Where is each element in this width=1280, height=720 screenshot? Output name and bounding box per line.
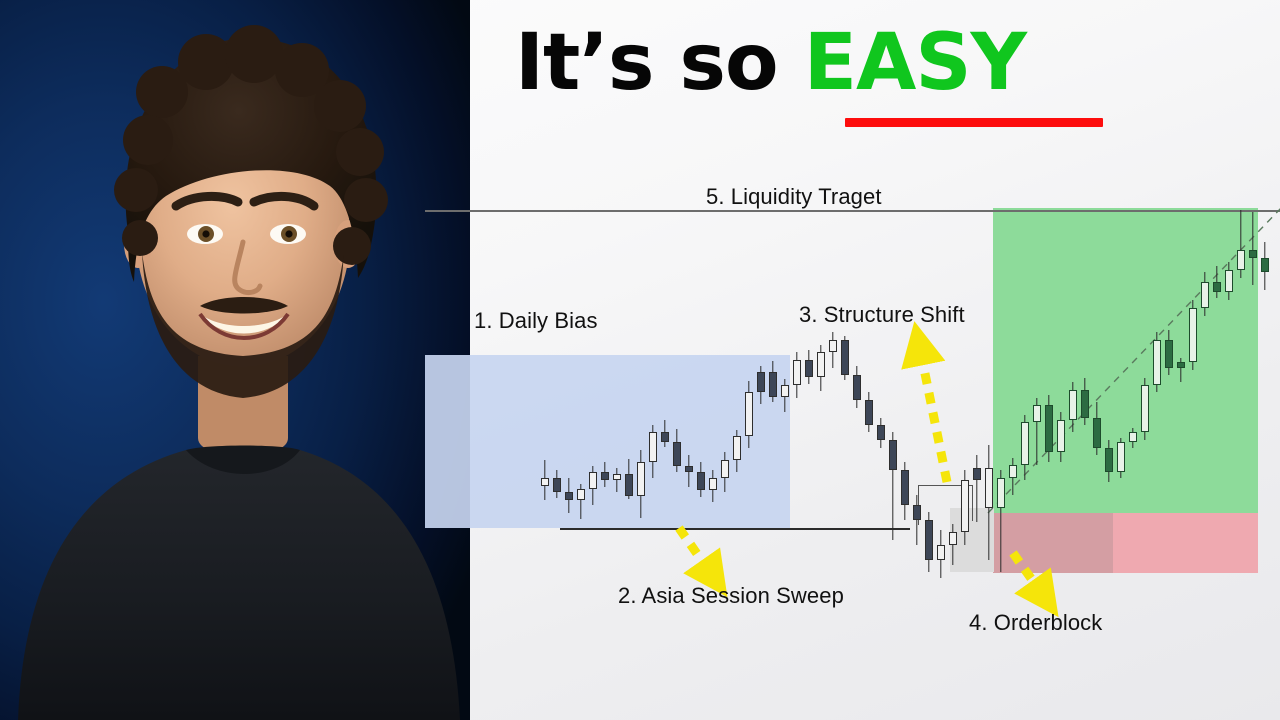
candle-body — [541, 478, 549, 486]
candle-body — [601, 472, 609, 480]
candle — [925, 512, 933, 572]
candle-body — [1129, 432, 1137, 442]
candle-body — [997, 478, 1005, 508]
candle — [1057, 412, 1065, 462]
candle — [1153, 332, 1161, 392]
candle — [961, 470, 969, 545]
candle-body — [1009, 465, 1017, 478]
candle-body — [937, 545, 945, 560]
candle-body — [637, 462, 645, 496]
candle-body — [769, 372, 777, 397]
candle — [553, 470, 561, 498]
candle — [973, 455, 981, 522]
candle — [541, 460, 549, 500]
candle-series — [420, 140, 1280, 710]
candle-body — [913, 505, 921, 520]
candle — [637, 450, 645, 518]
candle — [1237, 210, 1245, 278]
candle — [1117, 438, 1125, 478]
candle-body — [805, 360, 813, 377]
candle-body — [793, 360, 801, 385]
candle-wick — [976, 455, 977, 522]
candle — [1093, 402, 1101, 455]
candle-body — [925, 520, 933, 560]
candle — [1081, 378, 1089, 425]
candle — [901, 462, 909, 520]
candlestick-chart — [420, 140, 1280, 710]
candle-body — [733, 436, 741, 460]
candle — [673, 429, 681, 472]
candle — [1033, 398, 1041, 465]
candle-body — [973, 468, 981, 480]
candle — [661, 420, 669, 447]
candle — [1129, 428, 1137, 448]
candle — [1201, 272, 1209, 316]
candle-body — [613, 474, 621, 480]
candle — [721, 452, 729, 492]
candle — [1213, 266, 1221, 298]
candle-body — [1249, 250, 1257, 258]
candle-body — [841, 340, 849, 375]
candle-body — [589, 472, 597, 489]
candle-body — [853, 375, 861, 400]
candle-body — [1069, 390, 1077, 420]
candle — [769, 361, 777, 402]
candle-body — [757, 372, 765, 392]
candle-body — [1045, 405, 1053, 452]
label-structure-shift: 3. Structure Shift — [799, 302, 965, 328]
thumbnail-canvas: 5. Liquidity Traget 1. Daily Bias 3. Str… — [0, 0, 1280, 720]
candle — [1261, 242, 1269, 290]
candle-body — [1081, 390, 1089, 418]
label-daily-bias: 1. Daily Bias — [474, 308, 598, 334]
candle — [1249, 212, 1257, 285]
candle-body — [1225, 270, 1233, 292]
candle-body — [1105, 448, 1113, 472]
candle — [757, 366, 765, 404]
candle-body — [1213, 282, 1221, 292]
candle — [685, 455, 693, 487]
candle — [1141, 378, 1149, 440]
candle-body — [985, 468, 993, 508]
candle — [889, 432, 897, 540]
title-plain: It’s so — [515, 18, 804, 108]
candle — [1189, 300, 1197, 370]
candle-body — [565, 492, 573, 500]
candle-body — [889, 440, 897, 470]
candle — [733, 430, 741, 472]
candle-body — [625, 474, 633, 496]
candle — [805, 350, 813, 384]
candle-wick — [1252, 212, 1253, 285]
candle-body — [829, 340, 837, 352]
candle-body — [1153, 340, 1161, 385]
candle — [613, 468, 621, 492]
candle — [829, 332, 837, 368]
candle-body — [661, 432, 669, 442]
candle — [913, 495, 921, 545]
presenter-torso — [18, 450, 460, 720]
candle — [841, 336, 849, 380]
candle-body — [1237, 250, 1245, 270]
candle — [793, 352, 801, 398]
candle — [565, 478, 573, 513]
candle-body — [1189, 308, 1197, 362]
candle — [709, 470, 717, 502]
candle-body — [721, 460, 729, 478]
candle — [949, 524, 957, 565]
candle-body — [901, 470, 909, 505]
candle — [1177, 358, 1185, 382]
candle — [589, 466, 597, 505]
candle — [853, 366, 861, 408]
candle-body — [1141, 385, 1149, 432]
candle — [1165, 330, 1173, 375]
candle-body — [745, 392, 753, 436]
candle-body — [865, 400, 873, 425]
candle — [997, 470, 1005, 572]
candle — [865, 392, 873, 432]
presenter-portrait — [0, 0, 470, 720]
candle-body — [577, 489, 585, 500]
candle-body — [1201, 282, 1209, 308]
candle — [817, 345, 825, 391]
candle-body — [1021, 422, 1029, 465]
candle-body — [709, 478, 717, 490]
candle-body — [817, 352, 825, 377]
candle — [745, 381, 753, 448]
candle — [625, 459, 633, 499]
candle — [601, 462, 609, 487]
label-asia-session-sweep: 2. Asia Session Sweep — [618, 583, 844, 609]
candle-body — [673, 442, 681, 466]
candle-body — [949, 532, 957, 545]
candle-body — [649, 432, 657, 462]
label-orderblock: 4. Orderblock — [969, 610, 1102, 636]
candle — [1021, 415, 1029, 480]
candle-body — [697, 472, 705, 490]
candle-body — [877, 425, 885, 440]
candle-body — [685, 466, 693, 472]
candle-body — [1057, 420, 1065, 452]
candle-body — [1033, 405, 1041, 422]
candle — [649, 425, 657, 478]
candle — [1105, 440, 1113, 482]
candle-body — [1261, 258, 1269, 272]
candle — [1225, 262, 1233, 300]
candle — [577, 484, 585, 519]
candle-body — [1093, 418, 1101, 448]
candle-body — [553, 478, 561, 492]
candle — [1069, 382, 1077, 432]
candle-wick — [916, 495, 917, 545]
candle — [781, 379, 789, 412]
candle — [1045, 395, 1053, 462]
page-title: It’s so EASY — [515, 24, 1026, 102]
candle-body — [781, 385, 789, 397]
candle-wick — [616, 468, 617, 492]
candle-body — [961, 480, 969, 532]
candle — [697, 462, 705, 497]
candle-body — [1117, 442, 1125, 472]
title-underline — [845, 118, 1103, 127]
candle — [1009, 458, 1017, 495]
candle — [985, 445, 993, 560]
candle — [877, 418, 885, 448]
title-highlight: EASY — [804, 18, 1026, 108]
candle — [937, 530, 945, 578]
candle-body — [1177, 362, 1185, 368]
candle-body — [1165, 340, 1173, 368]
label-liquidity-target: 5. Liquidity Traget — [706, 184, 882, 210]
